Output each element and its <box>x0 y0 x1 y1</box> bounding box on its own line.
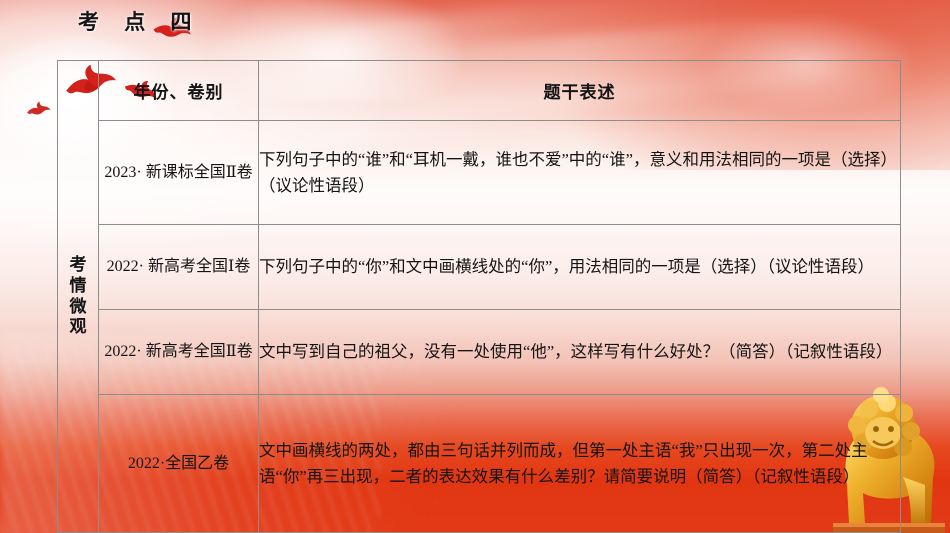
table-row: 2022· 新高考全国Ⅰ卷 下列句子中的“你”和文中画横线处的“你”，用法相同的… <box>58 225 901 310</box>
row-stem-1: 下列句子中的“你”和文中画横线处的“你”，用法相同的一项是（选择）（议论性语段） <box>259 225 901 310</box>
side-label-char-0: 考 <box>58 255 98 276</box>
column-header-year: 年份、卷别 <box>99 61 259 121</box>
table-row: 2022·全国乙卷 文中画横线的两处，都由三句话并列而成，但第一处主语“我”只出… <box>58 395 901 533</box>
row-stem-2: 文中写到自己的祖父，没有一处使用“他”，这样写有什么好处？（简答）（记叙性语段） <box>259 310 901 395</box>
bird-icon-4 <box>25 100 52 121</box>
exam-overview-table: 考 情 微 观 年份、卷别 题干表述 2023· 新课标全国Ⅱ卷 下列句子中的“… <box>57 60 901 533</box>
column-header-stem: 题干表述 <box>259 61 901 121</box>
row-year-0: 2023· 新课标全国Ⅱ卷 <box>99 121 259 225</box>
side-label-char-3: 观 <box>58 317 98 338</box>
side-label-char-1: 情 <box>58 276 98 297</box>
side-label-char-2: 微 <box>58 297 98 318</box>
table-row: 2023· 新课标全国Ⅱ卷 下列句子中的“谁”和“耳机一戴，谁也不爱”中的“谁”… <box>58 121 901 225</box>
slide-root: 考 点 四 考 情 微 观 年份、卷别 题干表述 <box>0 0 950 533</box>
row-stem-3: 文中画横线的两处，都由三句话并列而成，但第一处主语“我”只出现一次，第二处主语“… <box>259 395 901 533</box>
row-year-1: 2022· 新高考全国Ⅰ卷 <box>99 225 259 310</box>
side-label-cell: 考 情 微 观 <box>58 61 99 533</box>
page-title: 考 点 四 <box>78 6 202 36</box>
row-stem-0: 下列句子中的“谁”和“耳机一戴，谁也不爱”中的“谁”，意义和用法相同的一项是（选… <box>259 121 901 225</box>
table-header-row: 考 情 微 观 年份、卷别 题干表述 <box>58 61 901 121</box>
table-row: 2022· 新高考全国Ⅱ卷 文中写到自己的祖父，没有一处使用“他”，这样写有什么… <box>58 310 901 395</box>
row-year-3: 2022·全国乙卷 <box>99 395 259 533</box>
row-year-2: 2022· 新高考全国Ⅱ卷 <box>99 310 259 395</box>
exam-overview-table-wrapper: 考 情 微 观 年份、卷别 题干表述 2023· 新课标全国Ⅱ卷 下列句子中的“… <box>57 60 900 533</box>
